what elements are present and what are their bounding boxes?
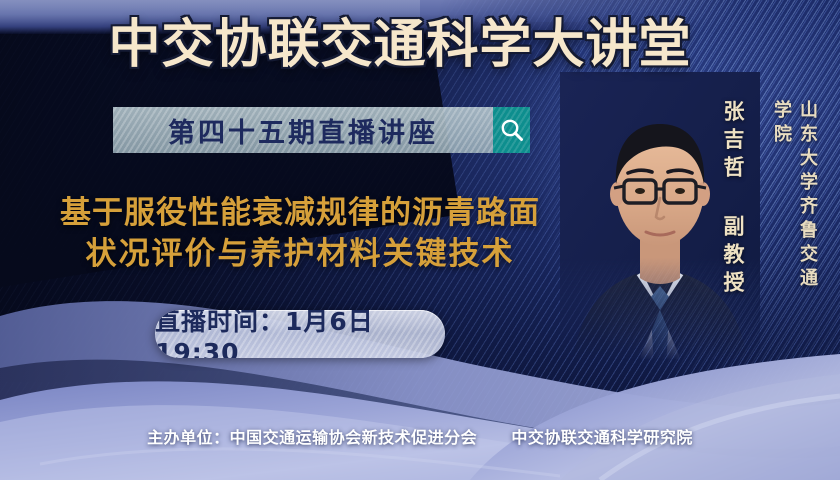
episode-subtitle-bar: 第四十五期直播讲座 (113, 107, 493, 153)
footer-organizer-primary: 主办单位：中国交通运输协会新技术促进分会 (147, 428, 477, 447)
broadcast-time-pill: 直播时间：1月6日19:30 (155, 310, 445, 358)
lecture-headline-line-1: 基于服役性能衰减规律的沥青路面 (0, 193, 600, 234)
search-icon (499, 117, 525, 143)
speaker-affiliation: 山东大学齐鲁交通学院 (768, 100, 820, 315)
livestream-poster: 中交协联交通科学大讲堂 第四十五期直播讲座 基于服役性能衰减规律的沥青路面 状况… (0, 0, 840, 480)
lecture-headline: 基于服役性能衰减规律的沥青路面 状况评价与养护材料关键技术 (0, 193, 600, 275)
banner-title: 中交协联交通科学大讲堂 (0, 14, 840, 76)
footer-organizer-secondary: 中交协联交通科学研究院 (511, 428, 693, 447)
broadcast-time-label: 直播时间：1月6日19:30 (155, 310, 445, 358)
search-icon-button[interactable] (493, 107, 530, 153)
speaker-name: 张吉哲 副教授 (718, 100, 748, 300)
episode-subtitle-label: 第四十五期直播讲座 (168, 111, 438, 150)
lecture-headline-line-2: 状况评价与养护材料关键技术 (0, 234, 600, 275)
footer-organizers: 主办单位：中国交通运输协会新技术促进分会 中交协联交通科学研究院 (0, 424, 840, 448)
